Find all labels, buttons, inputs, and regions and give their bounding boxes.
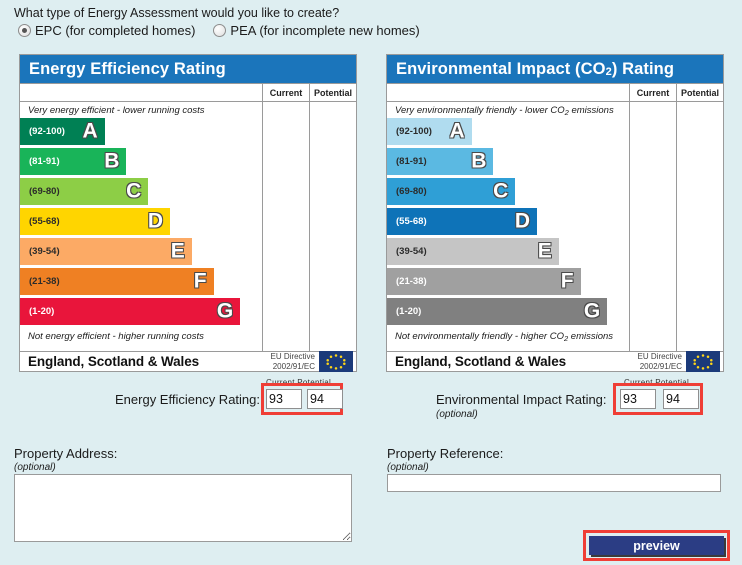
eu-directive-energy: EU Directive 2002/91/EC (271, 352, 319, 371)
band-d: (55-68)D (20, 208, 170, 235)
band-c: (69-80)C (387, 178, 515, 205)
top-caption-environmental: Very environmentally friendly - lower CO… (387, 102, 629, 118)
band-b: (81-91)B (387, 148, 493, 175)
environmental-potential-input[interactable] (663, 389, 699, 409)
environmental-current-input[interactable] (620, 389, 656, 409)
bars-column-energy: Very energy efficient - lower running co… (20, 102, 262, 351)
chart-footer-energy: England, Scotland & Wales EU Directive 2… (20, 351, 356, 371)
energy-efficiency-chart: Energy Efficiency Rating Current Potenti… (19, 54, 357, 372)
bottom-caption-env-main: Not environmentally friendly - higher CO (395, 331, 564, 342)
band-range: (39-54) (20, 246, 60, 257)
band-e: (39-54)E (20, 238, 192, 265)
bottom-caption-energy: Not energy efficient - higher running co… (20, 328, 262, 344)
band-letter: D (515, 209, 530, 233)
property-reference-input[interactable] (387, 474, 721, 492)
band-letter: F (194, 269, 207, 293)
band-letter: G (584, 299, 600, 323)
band-f: (21-38)F (387, 268, 581, 295)
band-e: (39-54)E (387, 238, 559, 265)
property-address-label: Property Address: (14, 446, 117, 461)
eu-directive-line1: EU Directive (638, 352, 682, 362)
current-value-cell-energy (262, 102, 309, 351)
band-letter: B (471, 149, 486, 173)
potential-value-cell-energy (309, 102, 356, 351)
band-list-energy: (92-100)A(81-91)B(69-80)C(55-68)D(39-54)… (20, 118, 262, 325)
header-current-environmental: Current (629, 84, 676, 101)
band-list-environmental: (92-100)A(81-91)B(69-80)C(55-68)D(39-54)… (387, 118, 629, 325)
chart-header-row-energy: Current Potential (20, 83, 356, 102)
eu-directive-line1: EU Directive (271, 352, 315, 362)
environmental-rating-group: Environmental Impact Rating: (optional) (436, 392, 614, 422)
footer-region-environmental: England, Scotland & Wales (387, 354, 638, 369)
bottom-caption-env-tail: emissions (568, 331, 613, 342)
property-address-optional: (optional) (14, 462, 56, 473)
footer-region-energy: England, Scotland & Wales (20, 354, 271, 369)
band-range: (21-38) (387, 276, 427, 287)
band-range: (92-100) (20, 126, 65, 137)
band-a: (92-100)A (387, 118, 472, 145)
band-letter: A (450, 119, 465, 143)
environmental-rating-optional: (optional) (436, 407, 614, 422)
chart-header-row-environmental: Current Potential (387, 83, 723, 102)
property-reference-label: Property Reference: (387, 446, 503, 461)
header-current-energy: Current (262, 84, 309, 101)
band-range: (1-20) (20, 306, 54, 317)
band-letter: G (217, 299, 233, 323)
header-potential-energy: Potential (309, 84, 356, 101)
epc-form-page: What type of Energy Assessment would you… (0, 0, 742, 565)
band-letter: E (171, 239, 185, 263)
top-caption-env-sub: 2 (565, 108, 569, 117)
band-letter: E (538, 239, 552, 263)
eu-directive-environmental: EU Directive 2002/91/EC (638, 352, 686, 371)
radio-pea-label: PEA (for incomplete new homes) (230, 23, 419, 38)
bottom-caption-env-sub: 2 (564, 334, 568, 343)
band-range: (92-100) (387, 126, 432, 137)
band-range: (55-68) (20, 216, 60, 227)
band-range: (21-38) (20, 276, 60, 287)
assessment-type-radio-group: EPC (for completed homes) PEA (for incom… (18, 23, 434, 38)
band-range: (69-80) (20, 186, 60, 197)
eu-directive-line2: 2002/91/EC (271, 362, 315, 372)
top-caption-env-main: Very environmentally friendly - lower CO (395, 105, 565, 116)
band-a: (92-100)A (20, 118, 105, 145)
eu-flag-icon (319, 351, 353, 372)
band-letter: C (126, 179, 141, 203)
property-address-input[interactable] (14, 474, 352, 542)
chart-title-environmental: Environmental Impact (CO2) Rating (387, 55, 723, 83)
energy-current-input[interactable] (266, 389, 302, 409)
potential-value-cell-environmental (676, 102, 723, 351)
preview-button[interactable]: preview (589, 536, 724, 555)
chart-title-env-main: Environmental Impact (CO (396, 60, 606, 79)
radio-epc-label: EPC (for completed homes) (35, 23, 195, 38)
eu-directive-line2: 2002/91/EC (638, 362, 682, 372)
band-letter: F (561, 269, 574, 293)
bars-column-environmental: Very environmentally friendly - lower CO… (387, 102, 629, 351)
header-blank (20, 84, 262, 101)
band-f: (21-38)F (20, 268, 214, 295)
band-b: (81-91)B (20, 148, 126, 175)
radio-pea[interactable] (213, 24, 226, 37)
chart-title-env-tail: ) Rating (612, 60, 674, 79)
eu-flag-icon (686, 351, 720, 372)
environmental-impact-chart: Environmental Impact (CO2) Rating Curren… (386, 54, 724, 372)
band-d: (55-68)D (387, 208, 537, 235)
energy-potential-input[interactable] (307, 389, 343, 409)
assessment-type-question: What type of Energy Assessment would you… (14, 6, 339, 20)
band-letter: D (148, 209, 163, 233)
environmental-rating-label-wrap: Environmental Impact Rating: (optional) (436, 392, 614, 422)
chart-body-energy: Very energy efficient - lower running co… (20, 102, 356, 351)
chart-title-env-sub: 2 (606, 66, 612, 78)
chart-footer-environmental: England, Scotland & Wales EU Directive 2… (387, 351, 723, 371)
band-range: (81-91) (20, 156, 60, 167)
band-range: (39-54) (387, 246, 427, 257)
band-range: (55-68) (387, 216, 427, 227)
band-letter: C (493, 179, 508, 203)
chart-title-energy: Energy Efficiency Rating (20, 55, 356, 83)
top-caption-energy: Very energy efficient - lower running co… (20, 102, 262, 118)
chart-body-environmental: Very environmentally friendly - lower CO… (387, 102, 723, 351)
energy-rating-group: Energy Efficiency Rating: (112, 392, 260, 407)
header-potential-environmental: Potential (676, 84, 723, 101)
property-reference-optional: (optional) (387, 462, 429, 473)
band-range: (69-80) (387, 186, 427, 197)
band-g: (1-20)G (387, 298, 607, 325)
current-value-cell-environmental (629, 102, 676, 351)
header-blank (387, 84, 629, 101)
top-caption-env-tail: emissions (569, 105, 614, 116)
band-letter: A (83, 119, 98, 143)
bottom-caption-environmental: Not environmentally friendly - higher CO… (387, 328, 629, 344)
radio-epc[interactable] (18, 24, 31, 37)
band-c: (69-80)C (20, 178, 148, 205)
band-g: (1-20)G (20, 298, 240, 325)
energy-rating-label: Energy Efficiency Rating: (112, 392, 260, 407)
band-letter: B (104, 149, 119, 173)
band-range: (81-91) (387, 156, 427, 167)
environmental-rating-label: Environmental Impact Rating: (436, 392, 607, 407)
band-range: (1-20) (387, 306, 421, 317)
